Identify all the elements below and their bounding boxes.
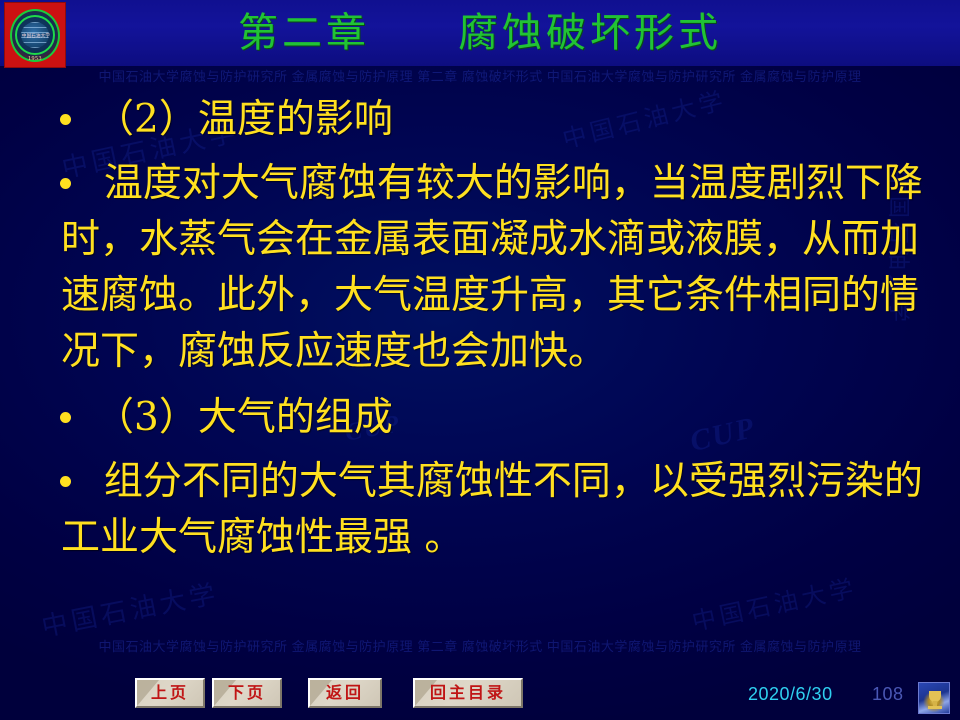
footer-date: 2020/6/30 — [748, 684, 833, 705]
presentation-slide: 中国石油大学 中国石油大学 CUP CUP 中国石油大学 中国石油大学 中国石油… — [0, 0, 960, 720]
bullet-item: 温度对大气腐蚀有较大的影响，当温度剧烈下降时，水蒸气会在金属表面凝成水滴或液膜，… — [0, 156, 960, 380]
main-menu-button-label: 回主目录 — [430, 683, 506, 702]
bullet-dot-icon — [60, 114, 71, 125]
bullet-text: （3）大气的组成 — [95, 390, 932, 446]
bullet-item: （3）大气的组成 — [0, 390, 960, 446]
watermark-strip-bottom: 中国石油大学腐蚀与防护研究所 金属腐蚀与防护原理 第二章 腐蚀破坏形式 中国石油… — [0, 636, 960, 655]
bullet-text: （2）温度的影响 — [95, 92, 932, 148]
main-menu-button[interactable]: 回主目录 — [413, 678, 523, 708]
bullet-text: 温度对大气腐蚀有较大的影响，当温度剧烈下降时，水蒸气会在金属表面凝成水滴或液膜，… — [61, 156, 932, 380]
slide-content: （2）温度的影响 温度对大气腐蚀有较大的影响，当温度剧烈下降时，水蒸气会在金属表… — [0, 92, 960, 570]
bullet-dot-icon — [60, 412, 71, 423]
bullet-dot-icon — [60, 476, 71, 487]
background-watermark: 中国石油大学 — [688, 568, 860, 637]
next-page-button-label: 下页 — [228, 683, 266, 702]
page-title: 第二章 腐蚀破坏形式 — [0, 6, 960, 60]
slide-footer: 上页 下页 返回 回主目录 2020/6/30 108 — [0, 676, 960, 720]
footer-page-number: 108 — [872, 684, 904, 705]
bullet-text: 组分不同的大气其腐蚀性不同，以受强烈污染的工业大气腐蚀性最强 。 — [61, 454, 932, 566]
next-page-button[interactable]: 下页 — [212, 678, 282, 708]
bullet-dot-icon — [60, 178, 71, 189]
trophy-base-shape — [928, 706, 942, 709]
back-button[interactable]: 返回 — [308, 678, 382, 708]
background-watermark: 中国石油大学 — [38, 573, 222, 644]
bullet-item: （2）温度的影响 — [0, 92, 960, 148]
previous-page-button-label: 上页 — [151, 683, 189, 702]
watermark-strip-top: 中国石油大学腐蚀与防护研究所 金属腐蚀与防护原理 第二章 腐蚀破坏形式 中国石油… — [0, 66, 960, 85]
back-button-label: 返回 — [326, 683, 364, 702]
bullet-item: 组分不同的大气其腐蚀性不同，以受强烈污染的工业大气腐蚀性最强 。 — [0, 454, 960, 566]
previous-page-button[interactable]: 上页 — [135, 678, 205, 708]
trophy-thumbnail-icon[interactable] — [918, 682, 950, 714]
